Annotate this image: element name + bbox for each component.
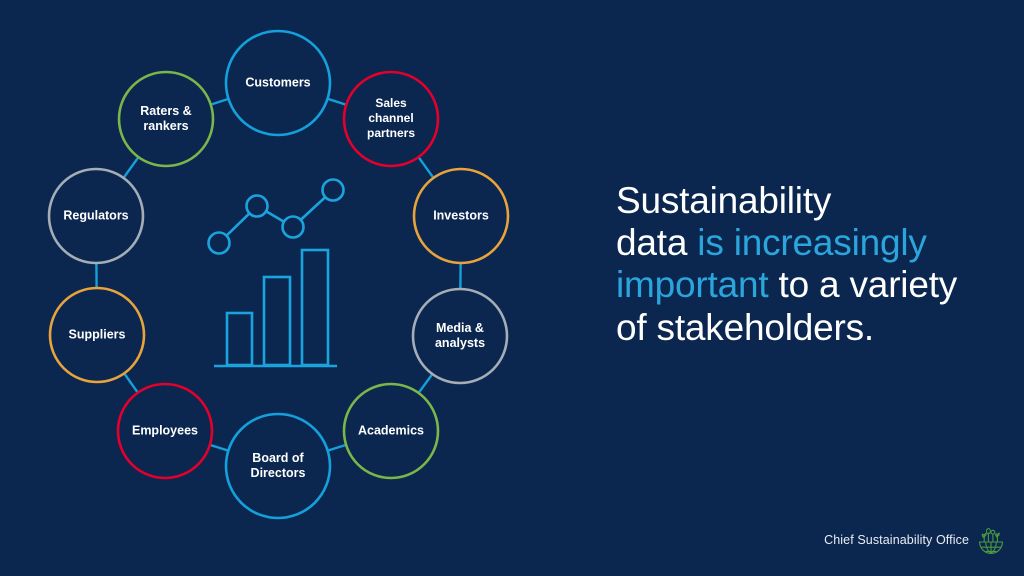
- headline-line-1: Sustainability: [616, 180, 1008, 222]
- connector-sales-channel-partners-to-investors: [419, 157, 434, 178]
- headline-line-4: of stakeholders.: [616, 307, 1008, 349]
- stakeholder-node-academics[interactable]: Academics: [344, 384, 438, 478]
- stakeholder-node-sales-channel-partners[interactable]: Saleschannelpartners: [344, 72, 438, 166]
- chart-node-2: [247, 196, 268, 217]
- node-label-investors: Investors: [433, 208, 489, 222]
- connector-customers-to-sales-channel-partners: [328, 99, 347, 105]
- node-label-board-of-directors: Directors: [251, 466, 306, 480]
- chart-bar-2: [264, 277, 290, 365]
- chart-bar-3: [302, 250, 328, 365]
- connector-media-analysts-to-academics: [419, 374, 433, 393]
- bar-line-chart-icon: [209, 180, 344, 367]
- footer-brand-label: Chief Sustainability Office: [824, 533, 969, 547]
- chart-node-3: [283, 217, 304, 238]
- node-label-suppliers: Suppliers: [69, 327, 126, 341]
- node-label-academics: Academics: [358, 423, 424, 437]
- node-label-sales-channel-partners: Sales: [375, 96, 407, 110]
- node-label-employees: Employees: [132, 423, 198, 437]
- node-label-raters-rankers: Raters &: [140, 104, 191, 118]
- headline-line-3: important to a variety: [616, 264, 1008, 306]
- connector-academics-to-board-of-directors: [328, 445, 346, 451]
- page-title: Sustainability data is increasingly impo…: [616, 180, 1008, 349]
- node-label-customers: Customers: [245, 75, 310, 89]
- headline-text-to-a-variety: to a variety: [768, 264, 957, 305]
- stakeholder-nodes: CustomersSaleschannelpartnersInvestorsMe…: [49, 31, 508, 518]
- chart-node-4: [323, 180, 344, 201]
- stakeholder-node-customers[interactable]: Customers: [226, 31, 330, 135]
- stakeholder-node-regulators[interactable]: Regulators: [49, 169, 143, 263]
- node-label-media-analysts: Media &: [436, 321, 484, 335]
- stakeholder-node-suppliers[interactable]: Suppliers: [50, 288, 144, 382]
- chart-trend-line: [219, 190, 333, 243]
- node-label-regulators: Regulators: [63, 208, 128, 222]
- globe-plants-logo: [978, 525, 1004, 555]
- stakeholder-circle-diagram: CustomersSaleschannelpartnersInvestorsMe…: [0, 0, 560, 576]
- connector-employees-to-suppliers: [124, 373, 138, 392]
- node-label-board-of-directors: Board of: [252, 451, 304, 465]
- node-label-sales-channel-partners: channel: [368, 111, 413, 125]
- headline-text-data: data: [616, 222, 697, 263]
- stakeholder-node-employees[interactable]: Employees: [118, 384, 212, 478]
- node-label-media-analysts: analysts: [435, 336, 485, 350]
- node-label-sales-channel-partners: partners: [367, 126, 415, 140]
- headline-text-of-stakeholders: of stakeholders.: [616, 307, 874, 348]
- headline-text-sustainability: Sustainability: [616, 180, 831, 221]
- stakeholder-node-media-analysts[interactable]: Media &analysts: [413, 289, 507, 383]
- stakeholder-node-board-of-directors[interactable]: Board ofDirectors: [226, 414, 330, 518]
- headline-line-2: data is increasingly: [616, 222, 1008, 264]
- headline-accent-is-increasingly: is increasingly: [697, 222, 926, 263]
- stakeholder-node-raters-rankers[interactable]: Raters &rankers: [119, 72, 213, 166]
- connector-board-of-directors-to-employees: [210, 445, 228, 451]
- slide-root: CustomersSaleschannelpartnersInvestorsMe…: [0, 0, 1024, 576]
- footer: Chief Sustainability Office: [824, 525, 1004, 555]
- node-label-raters-rankers: rankers: [143, 119, 188, 133]
- chart-node-1: [209, 233, 230, 254]
- connector-regulators-to-raters-rankers: [124, 157, 139, 178]
- stakeholder-node-investors[interactable]: Investors: [414, 169, 508, 263]
- chart-bar-1: [227, 313, 252, 365]
- headline-accent-important: important: [616, 264, 768, 305]
- diagram-canvas: CustomersSaleschannelpartnersInvestorsMe…: [0, 0, 560, 576]
- connector-raters-rankers-to-customers: [211, 99, 229, 105]
